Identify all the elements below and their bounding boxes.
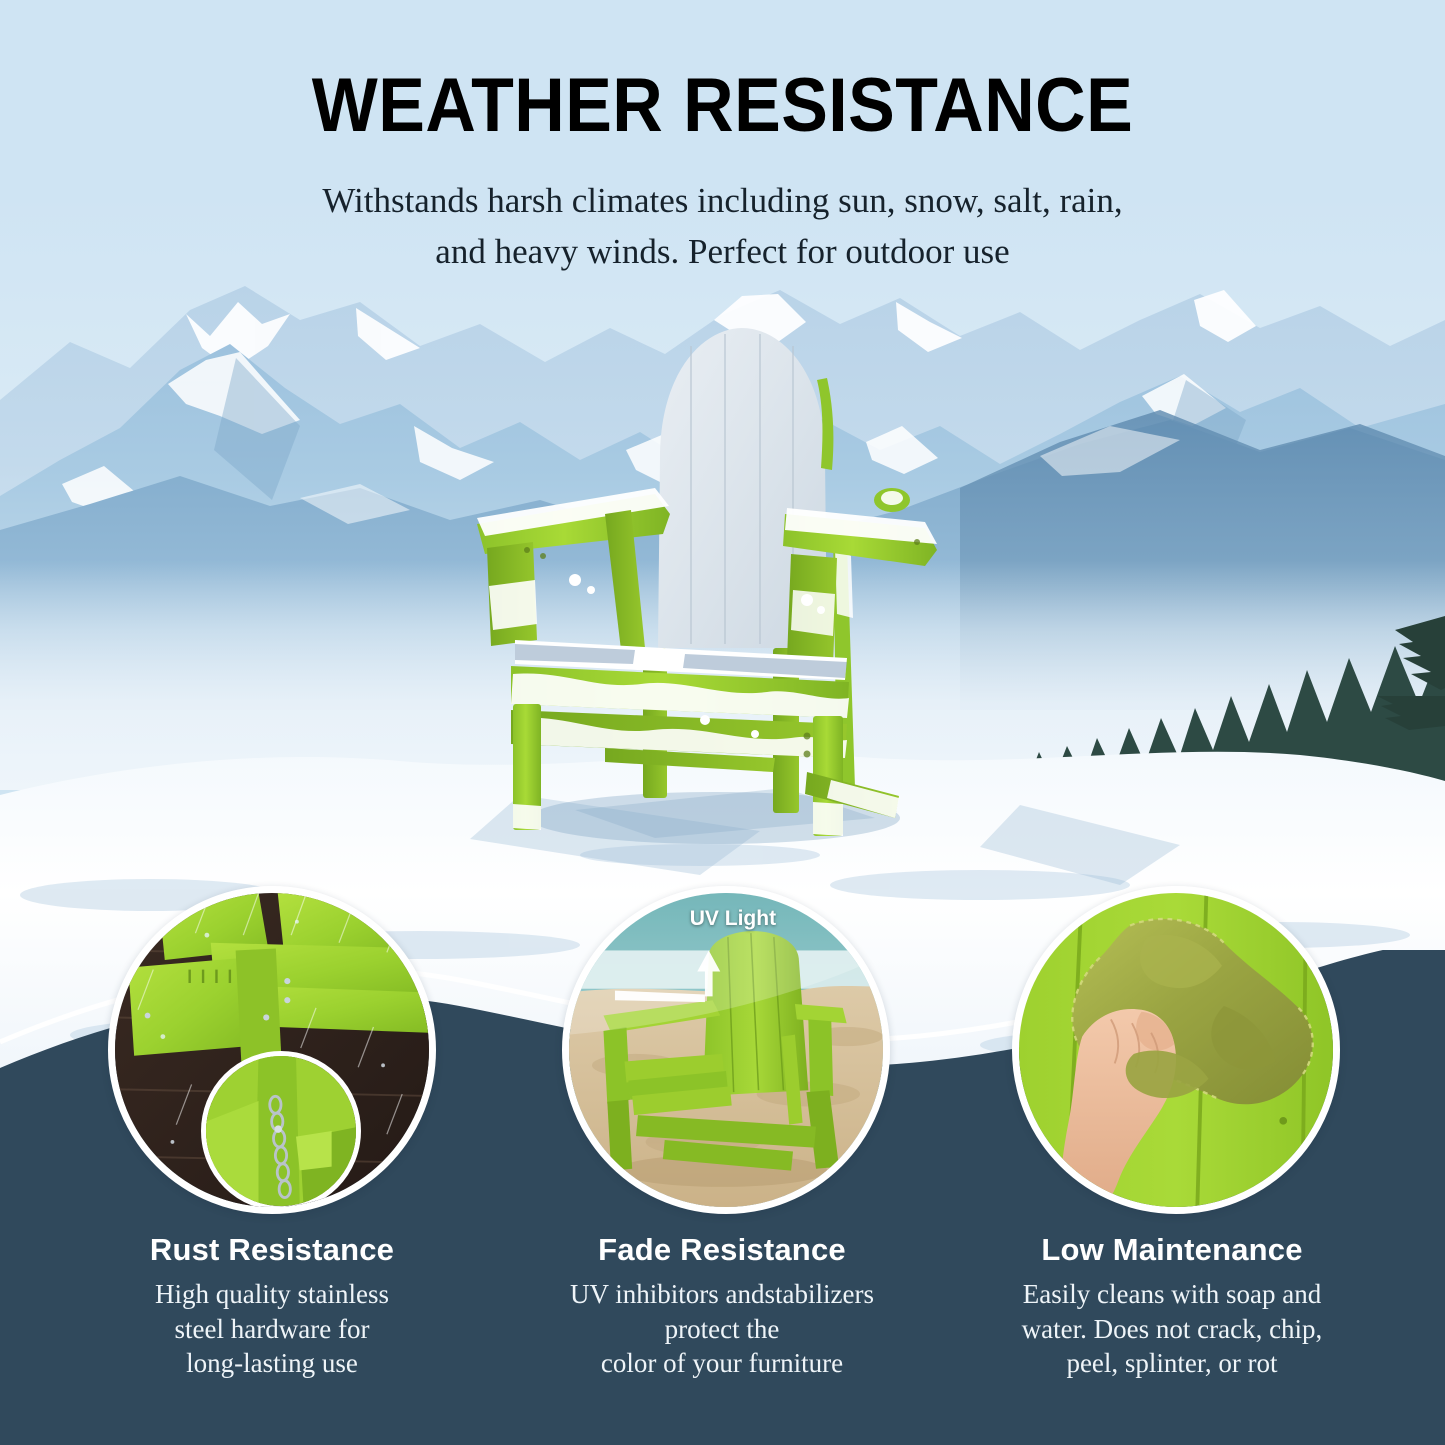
uv-light-label: UV Light <box>690 907 776 931</box>
feature-image-low-maintenance[interactable] <box>1012 886 1340 1214</box>
feature-title-low-maintenance: Low Maintenance <box>972 1232 1372 1268</box>
feature-title-fade-resistance: Fade Resistance <box>522 1232 922 1268</box>
product-feature-banner: WEATHER RESISTANCE Withstands harsh clim… <box>0 0 1445 1445</box>
subtitle-line-2: and heavy winds. Perfect for outdoor use <box>0 227 1445 278</box>
feature-caption-low-maintenance: Low Maintenance Easily cleans with soap … <box>972 1232 1372 1381</box>
page-title: WEATHER RESISTANCE <box>58 68 1387 144</box>
feature-caption-rust-resistance: Rust Resistance High quality stainless s… <box>72 1232 472 1381</box>
feature-image-rust-resistance[interactable] <box>108 886 436 1214</box>
feature-body-line-2: protect the <box>522 1312 922 1347</box>
feature-body-rust-resistance: High quality stainless steel hardware fo… <box>72 1277 472 1381</box>
beach-chair-uv-illustration <box>569 893 883 1207</box>
page-subtitle: Withstands harsh climates including sun,… <box>0 176 1445 278</box>
feature-body-line-3: peel, splinter, or rot <box>972 1346 1372 1381</box>
feature-body-line-1: Easily cleans with soap and <box>972 1277 1372 1312</box>
feature-title-rust-resistance: Rust Resistance <box>72 1232 472 1268</box>
feature-body-line-1: UV inhibitors andstabilizers <box>522 1277 922 1312</box>
hero-chair-image <box>455 318 955 848</box>
hand-wiping-cloth-illustration <box>1019 893 1333 1207</box>
feature-body-line-1: High quality stainless <box>72 1277 472 1312</box>
feature-image-fade-resistance[interactable]: UV Light <box>562 886 890 1214</box>
subtitle-line-1: Withstands harsh climates including sun,… <box>0 176 1445 227</box>
feature-body-fade-resistance: UV inhibitors andstabilizers protect the… <box>522 1277 922 1381</box>
hardware-chain-inset <box>201 1051 361 1211</box>
feature-body-line-2: steel hardware for <box>72 1312 472 1347</box>
feature-body-line-2: water. Does not crack, chip, <box>972 1312 1372 1347</box>
feature-body-line-3: color of your furniture <box>522 1346 922 1381</box>
feature-caption-fade-resistance: Fade Resistance UV inhibitors andstabili… <box>522 1232 922 1381</box>
feature-body-low-maintenance: Easily cleans with soap and water. Does … <box>972 1277 1372 1381</box>
feature-body-line-3: long-lasting use <box>72 1346 472 1381</box>
